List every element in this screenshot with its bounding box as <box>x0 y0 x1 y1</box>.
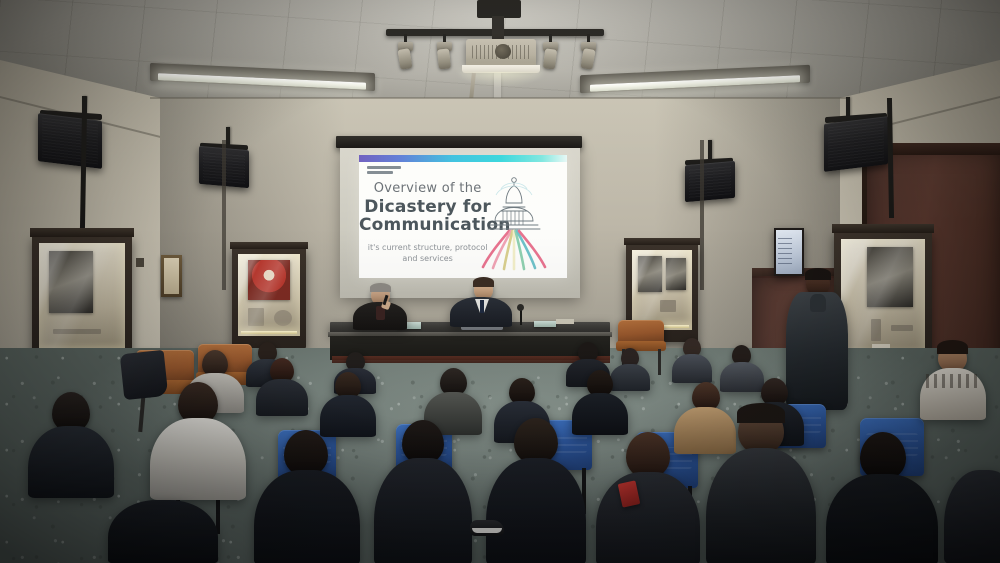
list-item <box>596 432 700 563</box>
speaker-left <box>352 284 408 328</box>
stage-spotlight <box>434 34 454 70</box>
speaker-right <box>450 278 512 328</box>
shoe-sole <box>472 528 502 533</box>
list-item <box>374 420 472 563</box>
ceiling-projector <box>466 39 536 67</box>
gradient-accent-bar <box>359 155 567 162</box>
list-item <box>256 358 308 414</box>
attendee-body <box>150 418 246 500</box>
attendee-head <box>860 432 906 480</box>
name-card <box>534 321 556 327</box>
dicastery-logo-mark <box>367 166 401 174</box>
attendee-body <box>28 426 114 498</box>
attendee-body <box>108 500 218 563</box>
back-wall-ceiling-line <box>150 97 850 99</box>
standing-attendee-hair <box>805 268 831 280</box>
attendee-body <box>706 448 816 563</box>
attendee-body <box>596 472 700 563</box>
speaker-support-pole <box>222 140 226 290</box>
display-case-top-rail <box>624 238 700 245</box>
list-item <box>320 372 376 434</box>
conference-hall-photo: Overview of the Dicastery for Communicat… <box>0 0 1000 563</box>
jacket-hood <box>810 294 826 312</box>
list-item <box>826 432 938 563</box>
suspended-loudspeaker <box>820 113 894 175</box>
attendee-hair <box>737 403 785 423</box>
knit-pattern <box>926 374 980 388</box>
attendee-hair <box>937 340 968 354</box>
attendee-body <box>374 458 472 563</box>
attendee-body <box>256 379 308 416</box>
attendee-body <box>826 474 938 563</box>
wall-switch <box>136 258 144 267</box>
display-case-top-rail <box>30 228 134 237</box>
wall-plaque <box>161 255 182 297</box>
projection-screen: Overview of the Dicastery for Communicat… <box>340 148 580 298</box>
list-item <box>920 342 986 418</box>
speaker-support-pole <box>700 140 704 290</box>
list-item <box>486 418 586 563</box>
st-peters-dome-illustration <box>465 169 563 273</box>
list-item <box>150 382 246 498</box>
wall-mounted-monitor <box>774 228 804 276</box>
projector-lens-housing <box>462 65 540 73</box>
attendee-body <box>486 458 586 563</box>
stage-spotlight <box>540 34 560 70</box>
display-case-top-rail <box>832 224 934 233</box>
speaker-left-hair <box>370 283 391 292</box>
stage-spotlight <box>395 34 415 70</box>
suspended-loudspeaker <box>682 158 738 206</box>
presentation-slide: Overview of the Dicastery for Communicat… <box>359 155 567 278</box>
illuminated-display-case <box>232 248 306 348</box>
attendee-body <box>254 470 360 563</box>
display-case-top-rail <box>230 242 308 249</box>
chair-leg <box>658 349 661 375</box>
necktie <box>480 300 484 313</box>
suspended-loudspeaker <box>34 110 108 172</box>
projector-mount-arm <box>492 16 504 40</box>
list-item <box>944 470 1000 563</box>
microphone-head <box>517 304 524 311</box>
list-item <box>706 406 816 563</box>
attendee-body <box>672 354 712 383</box>
list-item <box>28 392 114 496</box>
list-item <box>254 430 360 563</box>
speaker-right-hair <box>473 277 494 287</box>
attendee-body <box>944 470 1000 563</box>
stage-spotlight <box>578 34 598 70</box>
list-item <box>672 338 712 382</box>
projection-screen-housing <box>336 136 582 148</box>
list-item <box>108 500 218 563</box>
table-papers <box>556 319 574 324</box>
